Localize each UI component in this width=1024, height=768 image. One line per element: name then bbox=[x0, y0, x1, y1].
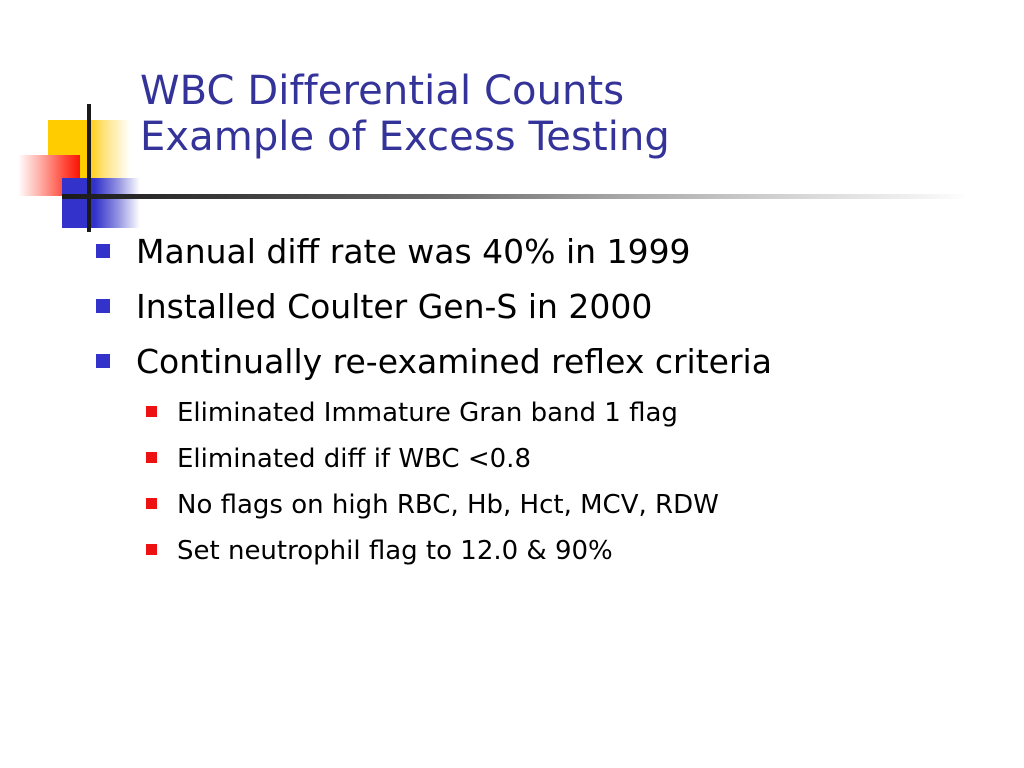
blue-square-icon bbox=[62, 178, 140, 228]
sub-list: Eliminated Immature Gran band 1 flag Eli… bbox=[96, 399, 996, 566]
sub-list-item-label: Eliminated Immature Gran band 1 flag bbox=[177, 399, 678, 428]
slide-canvas: WBC Differential Counts Example of Exces… bbox=[0, 0, 1024, 768]
sub-bullet-marker-icon bbox=[146, 544, 157, 555]
sub-list-item: Eliminated diff if WBC <0.8 bbox=[146, 445, 996, 474]
bullet-marker-icon bbox=[96, 244, 110, 258]
title-line-primary: WBC Differential Counts bbox=[140, 68, 980, 114]
sub-list-item-label: Set neutrophil flag to 12.0 & 90% bbox=[177, 537, 613, 566]
sub-list-item: Set neutrophil flag to 12.0 & 90% bbox=[146, 537, 996, 566]
list-item: Manual diff rate was 40% in 1999 bbox=[96, 234, 996, 271]
slide-body: Manual diff rate was 40% in 1999 Install… bbox=[96, 234, 996, 583]
list-item: Continually re-examined reflex criteria bbox=[96, 344, 996, 381]
sub-list-item-label: Eliminated diff if WBC <0.8 bbox=[177, 445, 531, 474]
sub-list-item: Eliminated Immature Gran band 1 flag bbox=[146, 399, 996, 428]
bullet-marker-icon bbox=[96, 299, 110, 313]
list-item-label: Manual diff rate was 40% in 1999 bbox=[136, 234, 691, 271]
bullet-marker-icon bbox=[96, 354, 110, 368]
list-item-label: Continually re-examined reflex criteria bbox=[136, 344, 772, 381]
list-item-label: Installed Coulter Gen-S in 2000 bbox=[136, 289, 652, 326]
title-line-secondary: Example of Excess Testing bbox=[140, 114, 980, 160]
list-item: Installed Coulter Gen-S in 2000 bbox=[96, 289, 996, 326]
title-divider bbox=[62, 194, 967, 199]
sub-bullet-marker-icon bbox=[146, 498, 157, 509]
slide-title: WBC Differential Counts Example of Exces… bbox=[140, 68, 980, 161]
sub-list-item-label: No flags on high RBC, Hb, Hct, MCV, RDW bbox=[177, 491, 719, 520]
sub-list-item: No flags on high RBC, Hb, Hct, MCV, RDW bbox=[146, 491, 996, 520]
vertical-rule-icon bbox=[87, 104, 91, 232]
sub-bullet-marker-icon bbox=[146, 406, 157, 417]
sub-bullet-marker-icon bbox=[146, 452, 157, 463]
